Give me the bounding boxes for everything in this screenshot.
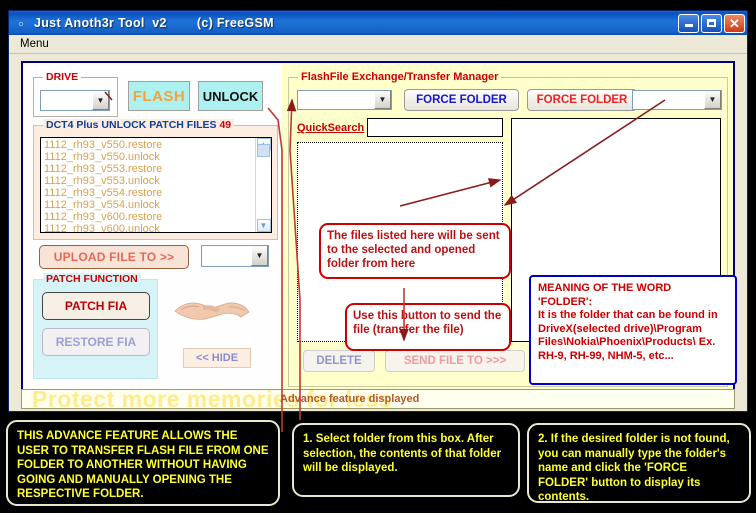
drive-combo-value [41, 91, 92, 110]
chevron-down-icon: ▼ [704, 91, 721, 109]
source-folder-combo[interactable]: ▼ [297, 90, 392, 110]
patch-files-legend: DCT4 Plus UNLOCK PATCH FILES 49 [43, 119, 234, 131]
flash-button[interactable]: FLASH [128, 81, 190, 111]
maximize-glyph [707, 19, 716, 27]
drive-combo[interactable]: ▼ [40, 90, 110, 111]
upload-target-combo[interactable]: ▼ [201, 245, 269, 267]
status-text: Advance feature displayed [280, 393, 419, 405]
window-title: Just Anoth3r Tool v2 (c) FreeGSM [34, 16, 678, 30]
restore-fia-button[interactable]: RESTORE FIA [42, 328, 150, 356]
callout-folder-body: It is the folder that can be found in Dr… [538, 309, 728, 363]
target-folder-combo[interactable]: ▼ [632, 90, 722, 110]
minimize-glyph [685, 24, 693, 27]
patch-files-scrollbar[interactable]: ▲ ▼ [255, 138, 271, 232]
patch-fia-button[interactable]: PATCH FIA [42, 292, 150, 320]
list-item[interactable]: 1112_rh93_v553.unlock [44, 175, 255, 187]
send-file-button[interactable]: SEND FILE TO >>> [385, 350, 525, 372]
upload-file-button[interactable]: UPLOAD FILE TO >> [39, 245, 189, 269]
close-glyph: ✕ [729, 18, 740, 29]
callout-step-2-text: 2. If the desired folder is not found, y… [538, 432, 740, 505]
phone-icon: ▫ [13, 15, 29, 31]
status-bar: Protect more memories for less Advance f… [21, 389, 735, 409]
patch-files-count: 49 [219, 119, 231, 131]
callout-step-1: 1. Select folder from this box. After se… [292, 423, 520, 497]
delete-button[interactable]: DELETE [303, 350, 375, 372]
flashfile-manager-legend: FlashFile Exchange/Transfer Manager [298, 71, 501, 83]
hide-button[interactable]: << HIDE [183, 348, 251, 368]
list-item[interactable]: 1112_rh93_v600.restore [44, 211, 255, 223]
callout-advance-feature: THIS ADVANCE FEATURE ALLOWS THE USER TO … [6, 420, 280, 506]
menu-item-menu[interactable]: Menu [15, 37, 54, 51]
callout-folder-meaning: MEANING OF THE WORD 'FOLDER': It is the … [529, 275, 737, 385]
quicksearch-input[interactable] [367, 118, 503, 137]
list-item[interactable]: 1112_rh93_v553.restore [44, 163, 255, 175]
list-item[interactable]: 1112_rh93_v554.unlock [44, 199, 255, 211]
drive-legend: DRIVE [43, 71, 81, 83]
chevron-down-icon: ▼ [374, 91, 391, 109]
callout-use-button: Use this button to send the file (transf… [345, 303, 511, 351]
quicksearch-label: QuickSearch [297, 122, 364, 134]
drive-groupbox: DRIVE ▼ [33, 77, 118, 117]
source-folder-value [298, 91, 374, 109]
window-controls: ✕ [678, 14, 745, 33]
handshake-graphic [173, 291, 251, 329]
chevron-down-icon: ▼ [251, 246, 268, 266]
callout-advance-feature-text: THIS ADVANCE FEATURE ALLOWS THE USER TO … [17, 429, 269, 502]
force-folder-left-button[interactable]: FORCE FOLDER [404, 89, 519, 111]
callout-files-listed: The files listed here will be sent to th… [319, 223, 511, 279]
unlock-button[interactable]: UNLOCK [198, 81, 263, 111]
main-panel: DRIVE ▼ FLASH UNLOCK DCT4 Plus UNLOCK PA… [21, 61, 735, 401]
patch-function-groupbox: PATCH FUNCTION PATCH FIA RESTORE FIA [33, 279, 158, 379]
upload-target-value [202, 246, 251, 266]
patch-files-legend-text: DCT4 Plus UNLOCK PATCH FILES [46, 119, 217, 131]
desktop-background: ▫ Just Anoth3r Tool v2 (c) FreeGSM ✕ Men… [0, 0, 756, 513]
list-item[interactable]: 1112_rh93_v550.restore [44, 139, 255, 151]
title-bar: ▫ Just Anoth3r Tool v2 (c) FreeGSM ✕ [9, 11, 747, 35]
handshake-image [173, 291, 251, 329]
menu-bar: Menu [9, 35, 747, 54]
list-item[interactable]: 1112_rh93_v554.restore [44, 187, 255, 199]
patch-files-items: 1112_rh93_v550.restore 1112_rh93_v550.un… [41, 138, 255, 232]
close-button[interactable]: ✕ [724, 14, 745, 33]
callout-step-1-text: 1. Select folder from this box. After se… [303, 432, 509, 476]
list-item[interactable]: 1112_rh93_v550.unlock [44, 151, 255, 163]
callout-step-2: 2. If the desired folder is not found, y… [527, 423, 751, 503]
list-item[interactable]: 1112_rh93_v600.unlock [44, 223, 255, 233]
patch-files-list[interactable]: 1112_rh93_v550.restore 1112_rh93_v550.un… [40, 137, 272, 233]
callout-folder-title: MEANING OF THE WORD 'FOLDER': [538, 282, 728, 309]
application-window: ▫ Just Anoth3r Tool v2 (c) FreeGSM ✕ Men… [8, 10, 748, 412]
scrollbar-thumb[interactable] [257, 144, 270, 157]
minimize-button[interactable] [678, 14, 699, 33]
scroll-down-icon[interactable]: ▼ [257, 219, 271, 232]
force-folder-right-button[interactable]: FORCE FOLDER [527, 89, 637, 111]
chevron-down-icon: ▼ [92, 91, 109, 110]
patch-files-groupbox: DCT4 Plus UNLOCK PATCH FILES 49 1112_rh9… [33, 125, 278, 240]
maximize-button[interactable] [701, 14, 722, 33]
patch-function-legend: PATCH FUNCTION [43, 273, 141, 285]
target-folder-value [633, 91, 704, 109]
